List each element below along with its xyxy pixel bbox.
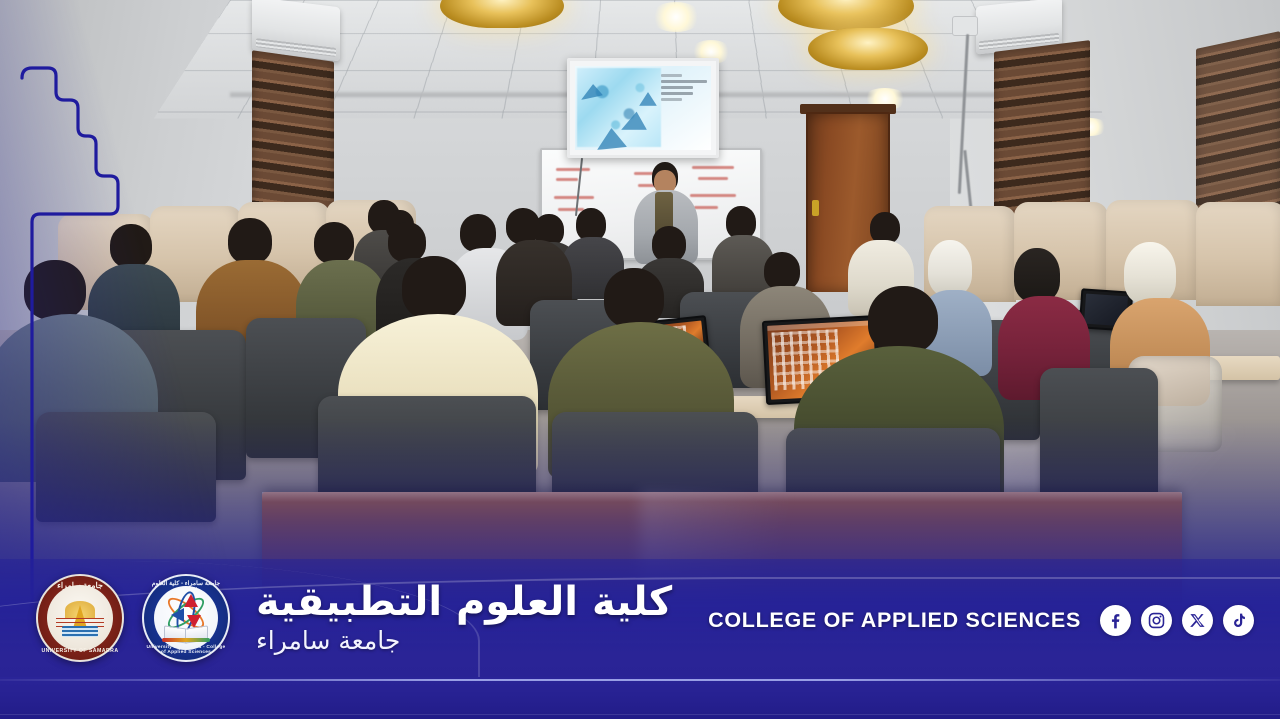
x-twitter-icon[interactable] [1182, 605, 1213, 636]
chevron-blue-icon [171, 608, 184, 622]
office-chair [36, 412, 216, 522]
college-logo-inner [154, 586, 218, 650]
ceiling-light-glow [650, 2, 702, 32]
hijab [1124, 242, 1176, 304]
chevron-red-icon [184, 594, 198, 607]
university-logo-inner [47, 585, 113, 651]
footer-bottom-bar [0, 677, 1280, 719]
wall-box [952, 16, 978, 36]
slide-artwork [577, 68, 661, 147]
arabic-university-name: جامعة سامراء [256, 626, 400, 655]
slide [575, 66, 711, 150]
laptop-menu-bar [767, 320, 873, 331]
arabic-title-block: كلية العلوم التطبيقية جامعة سامراء [256, 581, 672, 655]
footer-divider-line [0, 714, 1280, 715]
facebook-icon[interactable] [1100, 605, 1131, 636]
footer-bar: جامعة سامراء UNIVERSITY OF SAMARRA جامعة… [0, 559, 1280, 719]
poster-canvas: جامعة سامراء UNIVERSITY OF SAMARRA جامعة… [0, 0, 1280, 719]
water-lines-icon [62, 626, 99, 637]
hijab [1014, 248, 1060, 302]
university-logo-english-ring: UNIVERSITY OF SAMARRA [38, 648, 122, 654]
office-chair [1040, 368, 1158, 508]
arabic-college-name: كلية العلوم التطبيقية [256, 581, 672, 623]
college-logo-english-ring: University of Samarra - College of Appli… [144, 645, 228, 655]
pendant-light [808, 28, 928, 70]
english-and-social-block: COLLEGE OF APPLIED SCIENCES [708, 605, 1254, 636]
university-of-samarra-logo[interactable]: جامعة سامراء UNIVERSITY OF SAMARRA [36, 574, 124, 662]
book-band [162, 638, 210, 642]
hijab [928, 240, 972, 296]
footer-divider-line [0, 679, 1280, 681]
social-links [1100, 605, 1254, 636]
door-handle [812, 200, 819, 216]
english-college-name: COLLEGE OF APPLIED SCIENCES [708, 608, 1081, 633]
tiktok-icon[interactable] [1223, 605, 1254, 636]
projection-screen [567, 58, 719, 158]
college-of-applied-sciences-logo[interactable]: جامعة سامراء - كلية العلوم التطبيقية Uni… [142, 574, 230, 662]
instagram-icon[interactable] [1141, 605, 1172, 636]
slide-text-block [661, 74, 707, 104]
bench-back [1196, 202, 1280, 306]
